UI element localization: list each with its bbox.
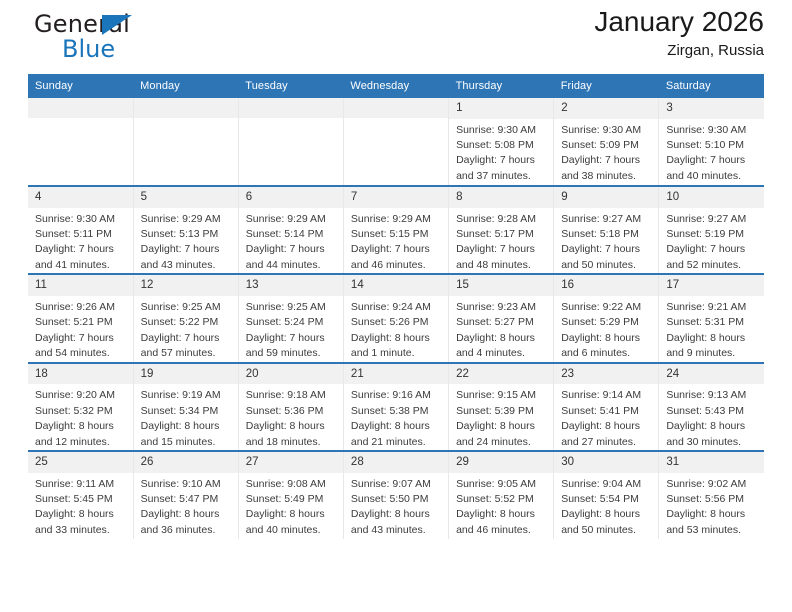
sunset-text: Sunset: 5:32 PM bbox=[35, 404, 128, 419]
day-cell-inner: 9Sunrise: 9:27 AMSunset: 5:18 PMDaylight… bbox=[554, 187, 658, 273]
day-number: 19 bbox=[134, 364, 238, 385]
sunrise-text: Sunrise: 9:04 AM bbox=[561, 477, 653, 492]
calendar-day-cell[interactable]: 14Sunrise: 9:24 AMSunset: 5:26 PMDayligh… bbox=[343, 274, 448, 362]
day-sun-info: Sunrise: 9:26 AMSunset: 5:21 PMDaylight:… bbox=[28, 296, 133, 362]
daylight-text-line1: Daylight: 7 hours bbox=[35, 242, 128, 257]
sunrise-text: Sunrise: 9:19 AM bbox=[141, 388, 233, 403]
day-sun-info: Sunrise: 9:11 AMSunset: 5:45 PMDaylight:… bbox=[28, 473, 133, 539]
day-cell-inner: 20Sunrise: 9:18 AMSunset: 5:36 PMDayligh… bbox=[239, 364, 343, 450]
calendar-cell-empty bbox=[343, 98, 448, 186]
calendar-day-cell[interactable]: 27Sunrise: 9:08 AMSunset: 5:49 PMDayligh… bbox=[238, 451, 343, 539]
day-cell-inner: 4Sunrise: 9:30 AMSunset: 5:11 PMDaylight… bbox=[28, 187, 133, 273]
day-sun-info: Sunrise: 9:05 AMSunset: 5:52 PMDaylight:… bbox=[449, 473, 553, 539]
day-cell-inner: 25Sunrise: 9:11 AMSunset: 5:45 PMDayligh… bbox=[28, 452, 133, 539]
day-number: 18 bbox=[28, 364, 133, 385]
daylight-text-line2: and 59 minutes. bbox=[246, 346, 338, 361]
day-cell-inner: 12Sunrise: 9:25 AMSunset: 5:22 PMDayligh… bbox=[134, 275, 238, 361]
weekday-header-saturday: Saturday bbox=[659, 74, 764, 98]
day-cell-inner: 8Sunrise: 9:28 AMSunset: 5:17 PMDaylight… bbox=[449, 187, 553, 273]
day-sun-info: Sunrise: 9:29 AMSunset: 5:15 PMDaylight:… bbox=[344, 208, 448, 274]
day-cell-inner: 5Sunrise: 9:29 AMSunset: 5:13 PMDaylight… bbox=[134, 187, 238, 273]
day-sun-info: Sunrise: 9:18 AMSunset: 5:36 PMDaylight:… bbox=[239, 384, 343, 450]
sunrise-text: Sunrise: 9:08 AM bbox=[246, 477, 338, 492]
sunset-text: Sunset: 5:49 PM bbox=[246, 492, 338, 507]
calendar-cell-empty bbox=[238, 98, 343, 186]
daylight-text-line2: and 21 minutes. bbox=[351, 435, 443, 450]
daylight-text-line1: Daylight: 8 hours bbox=[351, 507, 443, 522]
day-number: 22 bbox=[449, 364, 553, 385]
calendar-day-cell[interactable]: 8Sunrise: 9:28 AMSunset: 5:17 PMDaylight… bbox=[449, 186, 554, 274]
calendar-page: General Blue January 2026 Zirgan, Russia… bbox=[0, 0, 792, 612]
day-number: 4 bbox=[28, 187, 133, 208]
day-number: 27 bbox=[239, 452, 343, 473]
day-cell-inner: 30Sunrise: 9:04 AMSunset: 5:54 PMDayligh… bbox=[554, 452, 658, 539]
day-number: 31 bbox=[659, 452, 764, 473]
daylight-text-line1: Daylight: 8 hours bbox=[351, 331, 443, 346]
daylight-text-line2: and 4 minutes. bbox=[456, 346, 548, 361]
daylight-text-line1: Daylight: 7 hours bbox=[561, 242, 653, 257]
day-cell-inner: 3Sunrise: 9:30 AMSunset: 5:10 PMDaylight… bbox=[659, 98, 764, 185]
calendar-day-cell[interactable]: 22Sunrise: 9:15 AMSunset: 5:39 PMDayligh… bbox=[449, 363, 554, 451]
daylight-text-line2: and 50 minutes. bbox=[561, 258, 653, 273]
sunset-text: Sunset: 5:41 PM bbox=[561, 404, 653, 419]
day-number: 23 bbox=[554, 364, 658, 385]
day-cell-inner: 21Sunrise: 9:16 AMSunset: 5:38 PMDayligh… bbox=[344, 364, 448, 450]
daylight-text-line1: Daylight: 8 hours bbox=[456, 331, 548, 346]
sunrise-text: Sunrise: 9:05 AM bbox=[456, 477, 548, 492]
day-number: 6 bbox=[239, 187, 343, 208]
daylight-text-line1: Daylight: 8 hours bbox=[561, 419, 653, 434]
sunset-text: Sunset: 5:10 PM bbox=[666, 138, 759, 153]
daylight-text-line1: Daylight: 7 hours bbox=[35, 331, 128, 346]
calendar-day-cell[interactable]: 19Sunrise: 9:19 AMSunset: 5:34 PMDayligh… bbox=[133, 363, 238, 451]
day-cell-inner: 24Sunrise: 9:13 AMSunset: 5:43 PMDayligh… bbox=[659, 364, 764, 450]
daylight-text-line1: Daylight: 8 hours bbox=[246, 507, 338, 522]
day-sun-info: Sunrise: 9:21 AMSunset: 5:31 PMDaylight:… bbox=[659, 296, 764, 362]
sunset-text: Sunset: 5:56 PM bbox=[666, 492, 759, 507]
day-number: 17 bbox=[659, 275, 764, 296]
daylight-text-line1: Daylight: 8 hours bbox=[666, 419, 759, 434]
daylight-text-line1: Daylight: 7 hours bbox=[141, 242, 233, 257]
daylight-text-line2: and 48 minutes. bbox=[456, 258, 548, 273]
day-sun-info: Sunrise: 9:19 AMSunset: 5:34 PMDaylight:… bbox=[134, 384, 238, 450]
daylight-text-line2: and 40 minutes. bbox=[666, 169, 759, 184]
day-number: 12 bbox=[134, 275, 238, 296]
daylight-text-line2: and 52 minutes. bbox=[666, 258, 759, 273]
weekday-header-wednesday: Wednesday bbox=[343, 74, 448, 98]
sunset-text: Sunset: 5:14 PM bbox=[246, 227, 338, 242]
day-sun-info: Sunrise: 9:10 AMSunset: 5:47 PMDaylight:… bbox=[134, 473, 238, 539]
daylight-text-line2: and 36 minutes. bbox=[141, 523, 233, 538]
day-cell-inner: 28Sunrise: 9:07 AMSunset: 5:50 PMDayligh… bbox=[344, 452, 448, 539]
calendar-cell-empty bbox=[28, 98, 133, 186]
sunset-text: Sunset: 5:26 PM bbox=[351, 315, 443, 330]
day-cell-inner: 2Sunrise: 9:30 AMSunset: 5:09 PMDaylight… bbox=[554, 98, 658, 185]
daylight-text-line2: and 33 minutes. bbox=[35, 523, 128, 538]
sunrise-text: Sunrise: 9:20 AM bbox=[35, 388, 128, 403]
daylight-text-line1: Daylight: 8 hours bbox=[246, 419, 338, 434]
title-block: January 2026 Zirgan, Russia bbox=[594, 6, 764, 59]
daylight-text-line2: and 6 minutes. bbox=[561, 346, 653, 361]
day-number: 1 bbox=[449, 98, 553, 119]
daylight-text-line1: Daylight: 7 hours bbox=[666, 153, 759, 168]
day-sun-info: Sunrise: 9:15 AMSunset: 5:39 PMDaylight:… bbox=[449, 384, 553, 450]
day-sun-info: Sunrise: 9:22 AMSunset: 5:29 PMDaylight:… bbox=[554, 296, 658, 362]
day-sun-info: Sunrise: 9:07 AMSunset: 5:50 PMDaylight:… bbox=[344, 473, 448, 539]
day-number bbox=[134, 98, 238, 118]
daylight-text-line2: and 15 minutes. bbox=[141, 435, 233, 450]
sunset-text: Sunset: 5:45 PM bbox=[35, 492, 128, 507]
day-sun-info: Sunrise: 9:27 AMSunset: 5:18 PMDaylight:… bbox=[554, 208, 658, 274]
daylight-text-line2: and 53 minutes. bbox=[666, 523, 759, 538]
sunrise-text: Sunrise: 9:27 AM bbox=[666, 212, 759, 227]
day-sun-info: Sunrise: 9:24 AMSunset: 5:26 PMDaylight:… bbox=[344, 296, 448, 362]
day-sun-info: Sunrise: 9:29 AMSunset: 5:13 PMDaylight:… bbox=[134, 208, 238, 274]
calendar-day-cell[interactable]: 20Sunrise: 9:18 AMSunset: 5:36 PMDayligh… bbox=[238, 363, 343, 451]
location-subtitle: Zirgan, Russia bbox=[594, 42, 764, 59]
calendar-day-cell[interactable]: 15Sunrise: 9:23 AMSunset: 5:27 PMDayligh… bbox=[449, 274, 554, 362]
sunset-text: Sunset: 5:24 PM bbox=[246, 315, 338, 330]
daylight-text-line1: Daylight: 7 hours bbox=[456, 242, 548, 257]
daylight-text-line2: and 1 minute. bbox=[351, 346, 443, 361]
sunset-text: Sunset: 5:08 PM bbox=[456, 138, 548, 153]
day-number bbox=[28, 98, 133, 118]
day-cell-inner: 26Sunrise: 9:10 AMSunset: 5:47 PMDayligh… bbox=[134, 452, 238, 539]
calendar-body: 1Sunrise: 9:30 AMSunset: 5:08 PMDaylight… bbox=[28, 98, 764, 539]
day-cell-inner: 14Sunrise: 9:24 AMSunset: 5:26 PMDayligh… bbox=[344, 275, 448, 361]
sunset-text: Sunset: 5:54 PM bbox=[561, 492, 653, 507]
sunrise-text: Sunrise: 9:23 AM bbox=[456, 300, 548, 315]
calendar-day-cell[interactable]: 30Sunrise: 9:04 AMSunset: 5:54 PMDayligh… bbox=[554, 451, 659, 539]
day-number: 5 bbox=[134, 187, 238, 208]
day-sun-info: Sunrise: 9:30 AMSunset: 5:10 PMDaylight:… bbox=[659, 119, 764, 185]
daylight-text-line1: Daylight: 7 hours bbox=[141, 331, 233, 346]
daylight-text-line1: Daylight: 8 hours bbox=[351, 419, 443, 434]
sunset-text: Sunset: 5:13 PM bbox=[141, 227, 233, 242]
day-number bbox=[239, 98, 343, 118]
weekday-header-monday: Monday bbox=[133, 74, 238, 98]
calendar-day-cell[interactable]: 2Sunrise: 9:30 AMSunset: 5:09 PMDaylight… bbox=[554, 98, 659, 186]
calendar-day-cell[interactable]: 10Sunrise: 9:27 AMSunset: 5:19 PMDayligh… bbox=[659, 186, 764, 274]
sunrise-text: Sunrise: 9:29 AM bbox=[141, 212, 233, 227]
day-number: 29 bbox=[449, 452, 553, 473]
calendar-day-cell[interactable]: 18Sunrise: 9:20 AMSunset: 5:32 PMDayligh… bbox=[28, 363, 133, 451]
day-cell-inner: 23Sunrise: 9:14 AMSunset: 5:41 PMDayligh… bbox=[554, 364, 658, 450]
day-number: 3 bbox=[659, 98, 764, 119]
day-number: 16 bbox=[554, 275, 658, 296]
sunset-text: Sunset: 5:11 PM bbox=[35, 227, 128, 242]
calendar-day-cell[interactable]: 21Sunrise: 9:16 AMSunset: 5:38 PMDayligh… bbox=[343, 363, 448, 451]
sunrise-text: Sunrise: 9:21 AM bbox=[666, 300, 759, 315]
sunset-text: Sunset: 5:19 PM bbox=[666, 227, 759, 242]
daylight-text-line1: Daylight: 7 hours bbox=[456, 153, 548, 168]
sunset-text: Sunset: 5:34 PM bbox=[141, 404, 233, 419]
sunrise-text: Sunrise: 9:24 AM bbox=[351, 300, 443, 315]
weekday-header-friday: Friday bbox=[554, 74, 659, 98]
day-cell-inner: 1Sunrise: 9:30 AMSunset: 5:08 PMDaylight… bbox=[449, 98, 553, 185]
day-sun-info: Sunrise: 9:02 AMSunset: 5:56 PMDaylight:… bbox=[659, 473, 764, 539]
calendar-day-cell[interactable]: 28Sunrise: 9:07 AMSunset: 5:50 PMDayligh… bbox=[343, 451, 448, 539]
daylight-text-line1: Daylight: 8 hours bbox=[561, 331, 653, 346]
day-cell-inner: 11Sunrise: 9:26 AMSunset: 5:21 PMDayligh… bbox=[28, 275, 133, 361]
sunrise-text: Sunrise: 9:07 AM bbox=[351, 477, 443, 492]
day-sun-info: Sunrise: 9:28 AMSunset: 5:17 PMDaylight:… bbox=[449, 208, 553, 274]
page-header: General Blue January 2026 Zirgan, Russia bbox=[28, 0, 764, 74]
day-sun-info: Sunrise: 9:27 AMSunset: 5:19 PMDaylight:… bbox=[659, 208, 764, 274]
calendar-table: Sunday Monday Tuesday Wednesday Thursday… bbox=[28, 74, 764, 539]
calendar-day-cell[interactable]: 6Sunrise: 9:29 AMSunset: 5:14 PMDaylight… bbox=[238, 186, 343, 274]
day-sun-info: Sunrise: 9:14 AMSunset: 5:41 PMDaylight:… bbox=[554, 384, 658, 450]
day-sun-info: Sunrise: 9:25 AMSunset: 5:24 PMDaylight:… bbox=[239, 296, 343, 362]
day-sun-info: Sunrise: 9:04 AMSunset: 5:54 PMDaylight:… bbox=[554, 473, 658, 539]
day-number: 20 bbox=[239, 364, 343, 385]
sunset-text: Sunset: 5:50 PM bbox=[351, 492, 443, 507]
logo-triangle-icon bbox=[102, 15, 132, 35]
calendar-day-cell[interactable]: 7Sunrise: 9:29 AMSunset: 5:15 PMDaylight… bbox=[343, 186, 448, 274]
day-cell-inner: 27Sunrise: 9:08 AMSunset: 5:49 PMDayligh… bbox=[239, 452, 343, 539]
daylight-text-line1: Daylight: 8 hours bbox=[141, 419, 233, 434]
day-number: 26 bbox=[134, 452, 238, 473]
general-blue-logo[interactable]: General Blue bbox=[34, 12, 130, 61]
sunset-text: Sunset: 5:22 PM bbox=[141, 315, 233, 330]
day-number bbox=[344, 98, 448, 118]
weekday-header-tuesday: Tuesday bbox=[238, 74, 343, 98]
daylight-text-line2: and 46 minutes. bbox=[456, 523, 548, 538]
sunset-text: Sunset: 5:52 PM bbox=[456, 492, 548, 507]
sunset-text: Sunset: 5:18 PM bbox=[561, 227, 653, 242]
sunrise-text: Sunrise: 9:14 AM bbox=[561, 388, 653, 403]
day-sun-info: Sunrise: 9:30 AMSunset: 5:08 PMDaylight:… bbox=[449, 119, 553, 185]
day-number: 25 bbox=[28, 452, 133, 473]
daylight-text-line2: and 40 minutes. bbox=[246, 523, 338, 538]
day-cell-inner: 22Sunrise: 9:15 AMSunset: 5:39 PMDayligh… bbox=[449, 364, 553, 450]
day-number: 2 bbox=[554, 98, 658, 119]
daylight-text-line1: Daylight: 7 hours bbox=[666, 242, 759, 257]
day-cell-inner bbox=[134, 98, 238, 185]
day-sun-info: Sunrise: 9:16 AMSunset: 5:38 PMDaylight:… bbox=[344, 384, 448, 450]
sunrise-text: Sunrise: 9:29 AM bbox=[246, 212, 338, 227]
daylight-text-line2: and 30 minutes. bbox=[666, 435, 759, 450]
page-title: January 2026 bbox=[594, 6, 764, 38]
sunset-text: Sunset: 5:27 PM bbox=[456, 315, 548, 330]
day-sun-info: Sunrise: 9:29 AMSunset: 5:14 PMDaylight:… bbox=[239, 208, 343, 274]
daylight-text-line1: Daylight: 8 hours bbox=[666, 507, 759, 522]
sunrise-text: Sunrise: 9:25 AM bbox=[141, 300, 233, 315]
daylight-text-line1: Daylight: 8 hours bbox=[35, 419, 128, 434]
calendar-week-row: 18Sunrise: 9:20 AMSunset: 5:32 PMDayligh… bbox=[28, 363, 764, 451]
day-cell-inner: 17Sunrise: 9:21 AMSunset: 5:31 PMDayligh… bbox=[659, 275, 764, 361]
calendar-day-cell[interactable]: 12Sunrise: 9:25 AMSunset: 5:22 PMDayligh… bbox=[133, 274, 238, 362]
sunset-text: Sunset: 5:47 PM bbox=[141, 492, 233, 507]
sunset-text: Sunset: 5:43 PM bbox=[666, 404, 759, 419]
day-cell-inner: 19Sunrise: 9:19 AMSunset: 5:34 PMDayligh… bbox=[134, 364, 238, 450]
calendar-day-cell[interactable]: 3Sunrise: 9:30 AMSunset: 5:10 PMDaylight… bbox=[659, 98, 764, 186]
day-number: 8 bbox=[449, 187, 553, 208]
day-sun-info: Sunrise: 9:25 AMSunset: 5:22 PMDaylight:… bbox=[134, 296, 238, 362]
sunset-text: Sunset: 5:31 PM bbox=[666, 315, 759, 330]
daylight-text-line2: and 54 minutes. bbox=[35, 346, 128, 361]
day-cell-inner: 6Sunrise: 9:29 AMSunset: 5:14 PMDaylight… bbox=[239, 187, 343, 273]
weekday-header-thursday: Thursday bbox=[449, 74, 554, 98]
calendar-day-cell[interactable]: 5Sunrise: 9:29 AMSunset: 5:13 PMDaylight… bbox=[133, 186, 238, 274]
calendar-day-cell[interactable]: 4Sunrise: 9:30 AMSunset: 5:11 PMDaylight… bbox=[28, 186, 133, 274]
sunrise-text: Sunrise: 9:30 AM bbox=[35, 212, 128, 227]
daylight-text-line2: and 57 minutes. bbox=[141, 346, 233, 361]
day-cell-inner: 10Sunrise: 9:27 AMSunset: 5:19 PMDayligh… bbox=[659, 187, 764, 273]
calendar-day-cell[interactable]: 25Sunrise: 9:11 AMSunset: 5:45 PMDayligh… bbox=[28, 451, 133, 539]
sunrise-text: Sunrise: 9:16 AM bbox=[351, 388, 443, 403]
sunset-text: Sunset: 5:09 PM bbox=[561, 138, 653, 153]
sunrise-text: Sunrise: 9:22 AM bbox=[561, 300, 653, 315]
sunrise-text: Sunrise: 9:30 AM bbox=[561, 123, 653, 138]
calendar-day-cell[interactable]: 11Sunrise: 9:26 AMSunset: 5:21 PMDayligh… bbox=[28, 274, 133, 362]
calendar-week-row: 1Sunrise: 9:30 AMSunset: 5:08 PMDaylight… bbox=[28, 98, 764, 186]
day-cell-inner: 13Sunrise: 9:25 AMSunset: 5:24 PMDayligh… bbox=[239, 275, 343, 361]
calendar-day-cell[interactable]: 9Sunrise: 9:27 AMSunset: 5:18 PMDaylight… bbox=[554, 186, 659, 274]
daylight-text-line2: and 50 minutes. bbox=[561, 523, 653, 538]
day-cell-inner bbox=[344, 98, 448, 185]
sunrise-text: Sunrise: 9:15 AM bbox=[456, 388, 548, 403]
day-sun-info: Sunrise: 9:30 AMSunset: 5:09 PMDaylight:… bbox=[554, 119, 658, 185]
sunrise-text: Sunrise: 9:02 AM bbox=[666, 477, 759, 492]
daylight-text-line2: and 9 minutes. bbox=[666, 346, 759, 361]
sunrise-text: Sunrise: 9:18 AM bbox=[246, 388, 338, 403]
calendar-day-cell[interactable]: 17Sunrise: 9:21 AMSunset: 5:31 PMDayligh… bbox=[659, 274, 764, 362]
day-cell-inner bbox=[239, 98, 343, 185]
calendar-day-cell[interactable]: 16Sunrise: 9:22 AMSunset: 5:29 PMDayligh… bbox=[554, 274, 659, 362]
sunrise-text: Sunrise: 9:30 AM bbox=[456, 123, 548, 138]
calendar-day-cell[interactable]: 23Sunrise: 9:14 AMSunset: 5:41 PMDayligh… bbox=[554, 363, 659, 451]
day-number: 7 bbox=[344, 187, 448, 208]
calendar-day-cell[interactable]: 13Sunrise: 9:25 AMSunset: 5:24 PMDayligh… bbox=[238, 274, 343, 362]
sunset-text: Sunset: 5:39 PM bbox=[456, 404, 548, 419]
daylight-text-line2: and 41 minutes. bbox=[35, 258, 128, 273]
day-number: 28 bbox=[344, 452, 448, 473]
day-sun-info: Sunrise: 9:23 AMSunset: 5:27 PMDaylight:… bbox=[449, 296, 553, 362]
sunset-text: Sunset: 5:38 PM bbox=[351, 404, 443, 419]
day-number: 9 bbox=[554, 187, 658, 208]
sunrise-text: Sunrise: 9:26 AM bbox=[35, 300, 128, 315]
calendar-cell-empty bbox=[133, 98, 238, 186]
daylight-text-line1: Daylight: 8 hours bbox=[141, 507, 233, 522]
daylight-text-line1: Daylight: 8 hours bbox=[561, 507, 653, 522]
day-cell-inner: 31Sunrise: 9:02 AMSunset: 5:56 PMDayligh… bbox=[659, 452, 764, 539]
day-cell-inner: 16Sunrise: 9:22 AMSunset: 5:29 PMDayligh… bbox=[554, 275, 658, 361]
calendar-week-row: 25Sunrise: 9:11 AMSunset: 5:45 PMDayligh… bbox=[28, 451, 764, 539]
daylight-text-line2: and 24 minutes. bbox=[456, 435, 548, 450]
calendar-week-row: 11Sunrise: 9:26 AMSunset: 5:21 PMDayligh… bbox=[28, 274, 764, 362]
day-cell-inner: 15Sunrise: 9:23 AMSunset: 5:27 PMDayligh… bbox=[449, 275, 553, 361]
sunset-text: Sunset: 5:15 PM bbox=[351, 227, 443, 242]
calendar-day-cell[interactable]: 1Sunrise: 9:30 AMSunset: 5:08 PMDaylight… bbox=[449, 98, 554, 186]
calendar-day-cell[interactable]: 29Sunrise: 9:05 AMSunset: 5:52 PMDayligh… bbox=[449, 451, 554, 539]
day-number: 15 bbox=[449, 275, 553, 296]
sunrise-text: Sunrise: 9:28 AM bbox=[456, 212, 548, 227]
sunrise-text: Sunrise: 9:27 AM bbox=[561, 212, 653, 227]
logo-text-blue: Blue bbox=[62, 37, 130, 61]
weekday-header-sunday: Sunday bbox=[28, 74, 133, 98]
sunrise-text: Sunrise: 9:29 AM bbox=[351, 212, 443, 227]
daylight-text-line1: Daylight: 8 hours bbox=[666, 331, 759, 346]
sunset-text: Sunset: 5:21 PM bbox=[35, 315, 128, 330]
daylight-text-line2: and 37 minutes. bbox=[456, 169, 548, 184]
day-number: 14 bbox=[344, 275, 448, 296]
day-sun-info: Sunrise: 9:13 AMSunset: 5:43 PMDaylight:… bbox=[659, 384, 764, 450]
day-sun-info: Sunrise: 9:08 AMSunset: 5:49 PMDaylight:… bbox=[239, 473, 343, 539]
daylight-text-line1: Daylight: 7 hours bbox=[351, 242, 443, 257]
day-cell-inner: 18Sunrise: 9:20 AMSunset: 5:32 PMDayligh… bbox=[28, 364, 133, 450]
calendar-day-cell[interactable]: 26Sunrise: 9:10 AMSunset: 5:47 PMDayligh… bbox=[133, 451, 238, 539]
day-number: 13 bbox=[239, 275, 343, 296]
sunset-text: Sunset: 5:29 PM bbox=[561, 315, 653, 330]
daylight-text-line2: and 18 minutes. bbox=[246, 435, 338, 450]
daylight-text-line2: and 46 minutes. bbox=[351, 258, 443, 273]
sunset-text: Sunset: 5:17 PM bbox=[456, 227, 548, 242]
sunrise-text: Sunrise: 9:13 AM bbox=[666, 388, 759, 403]
day-number: 10 bbox=[659, 187, 764, 208]
daylight-text-line1: Daylight: 8 hours bbox=[35, 507, 128, 522]
day-number: 11 bbox=[28, 275, 133, 296]
daylight-text-line2: and 43 minutes. bbox=[351, 523, 443, 538]
daylight-text-line2: and 27 minutes. bbox=[561, 435, 653, 450]
calendar-week-row: 4Sunrise: 9:30 AMSunset: 5:11 PMDaylight… bbox=[28, 186, 764, 274]
daylight-text-line1: Daylight: 7 hours bbox=[561, 153, 653, 168]
sunrise-text: Sunrise: 9:30 AM bbox=[666, 123, 759, 138]
daylight-text-line1: Daylight: 7 hours bbox=[246, 242, 338, 257]
day-cell-inner: 7Sunrise: 9:29 AMSunset: 5:15 PMDaylight… bbox=[344, 187, 448, 273]
sunset-text: Sunset: 5:36 PM bbox=[246, 404, 338, 419]
daylight-text-line2: and 44 minutes. bbox=[246, 258, 338, 273]
daylight-text-line2: and 12 minutes. bbox=[35, 435, 128, 450]
calendar-day-cell[interactable]: 31Sunrise: 9:02 AMSunset: 5:56 PMDayligh… bbox=[659, 451, 764, 539]
calendar-day-cell[interactable]: 24Sunrise: 9:13 AMSunset: 5:43 PMDayligh… bbox=[659, 363, 764, 451]
daylight-text-line1: Daylight: 8 hours bbox=[456, 507, 548, 522]
sunrise-text: Sunrise: 9:25 AM bbox=[246, 300, 338, 315]
daylight-text-line2: and 38 minutes. bbox=[561, 169, 653, 184]
day-sun-info: Sunrise: 9:30 AMSunset: 5:11 PMDaylight:… bbox=[28, 208, 133, 274]
day-cell-inner bbox=[28, 98, 133, 185]
daylight-text-line2: and 43 minutes. bbox=[141, 258, 233, 273]
daylight-text-line1: Daylight: 8 hours bbox=[456, 419, 548, 434]
day-cell-inner: 29Sunrise: 9:05 AMSunset: 5:52 PMDayligh… bbox=[449, 452, 553, 539]
sunrise-text: Sunrise: 9:10 AM bbox=[141, 477, 233, 492]
calendar-header-row: Sunday Monday Tuesday Wednesday Thursday… bbox=[28, 74, 764, 98]
sunrise-text: Sunrise: 9:11 AM bbox=[35, 477, 128, 492]
day-number: 21 bbox=[344, 364, 448, 385]
day-number: 24 bbox=[659, 364, 764, 385]
day-number: 30 bbox=[554, 452, 658, 473]
day-sun-info: Sunrise: 9:20 AMSunset: 5:32 PMDaylight:… bbox=[28, 384, 133, 450]
daylight-text-line1: Daylight: 7 hours bbox=[246, 331, 338, 346]
